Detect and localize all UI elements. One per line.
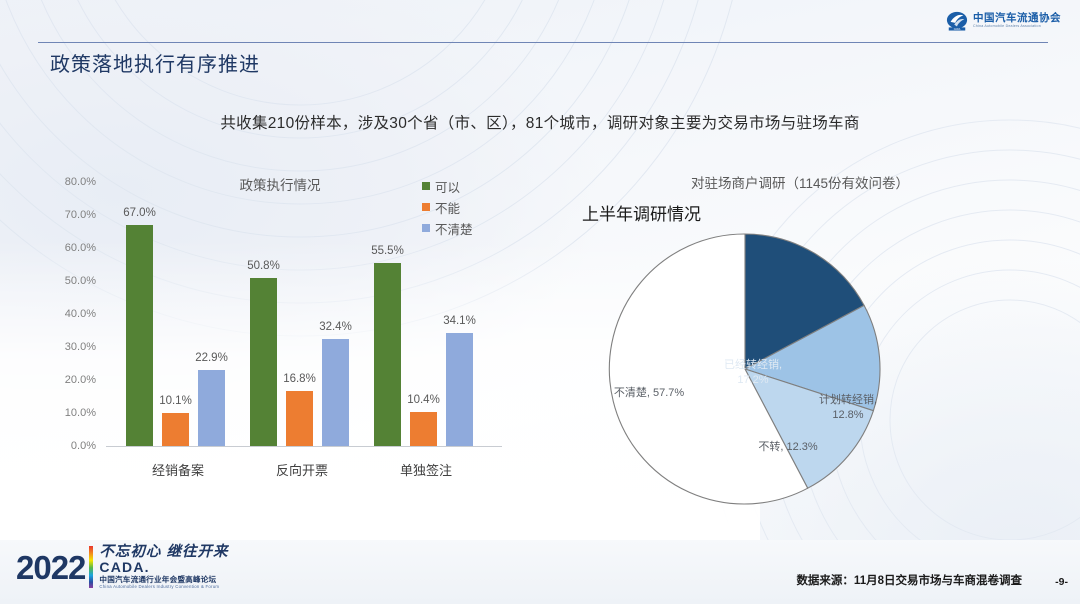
bar-2-0: 55.5% [374, 263, 401, 446]
y-tick-6: 60.0% [65, 242, 96, 254]
legend-item-0[interactable]: 可以 [422, 178, 473, 194]
y-tick-4: 40.0% [65, 308, 96, 320]
bar-x-label-1: 反向开票 [276, 460, 328, 479]
bar-x-label-2: 单独签注 [400, 460, 452, 479]
page-title: 政策落地执行有序推进 [50, 48, 260, 77]
y-tick-3: 30.0% [65, 341, 96, 353]
legend-label-2: 不清楚 [435, 219, 473, 238]
bar-chart-legend: 可以 不能 不清楚 [422, 178, 473, 241]
brand-name-cn: 中国汽车流通协会 [973, 13, 1061, 24]
bar-1-2: 32.4% [322, 339, 349, 446]
bar-1-0: 50.8% [250, 278, 277, 446]
bar-x-label-0: 经销备案 [152, 460, 204, 479]
bar-value-2-2: 34.1% [443, 315, 476, 327]
bar-value-0-2: 22.9% [195, 352, 228, 364]
legend-swatch-orange-icon [422, 203, 430, 211]
pie-chart: 对驻场商户调研（1145份有效问卷） 上半年调研情况 已经转经销, 17.2% [560, 168, 1070, 513]
bar-value-0-0: 67.0% [123, 207, 156, 219]
pie-label-planned-conversion-value: 12.8% [832, 409, 863, 421]
svg-text:CADA: CADA [954, 28, 961, 31]
cada-wordmark: CADA. [99, 560, 228, 575]
y-tick-7: 70.0% [65, 209, 96, 221]
bar-2-1: 10.4% [410, 412, 437, 446]
bar-group-1: 50.8% 16.8% 32.4% [248, 182, 356, 446]
data-source-note: 数据来源：11月8日交易市场与车商混卷调查 [796, 572, 1022, 588]
bar-value-1-2: 32.4% [319, 321, 352, 333]
bar-chart-y-axis: 0.0% 10.0% 20.0% 30.0% 40.0% 50.0% 60.0%… [22, 182, 102, 446]
conference-logo: 2022 不忘初心 继往开来 CADA. 中国汽车流通行业年会暨高峰论坛 Chi… [16, 540, 266, 594]
brand-text: 中国汽车流通协会 China Automobile Dealers Associ… [973, 13, 1061, 29]
pie-label-already-converted: 已经转经销, 17.2% [705, 358, 801, 388]
y-tick-1: 10.0% [65, 407, 96, 419]
title-divider [38, 42, 1048, 43]
forum-name-cn: 中国汽车流通行业年会暨高峰论坛 [99, 575, 228, 584]
y-tick-2: 20.0% [65, 374, 96, 386]
brand-logo: CADA 中国汽车流通协会 China Automobile Dealers A… [946, 8, 1066, 34]
legend-item-2[interactable]: 不清楚 [422, 220, 473, 236]
bar-0-0: 67.0% [126, 225, 153, 446]
legend-label-0: 可以 [435, 177, 460, 196]
y-tick-8: 80.0% [65, 176, 96, 188]
slide-canvas: CADA 中国汽车流通协会 China Automobile Dealers A… [0, 0, 1080, 604]
pie-label-already-converted-name: 已经转经销, [724, 359, 782, 371]
y-tick-5: 50.0% [65, 275, 96, 287]
bar-value-1-1: 16.8% [283, 373, 316, 385]
legend-swatch-blue-icon [422, 224, 430, 232]
rainbow-stripe-icon [89, 546, 93, 588]
bar-value-1-0: 50.8% [247, 260, 280, 272]
bar-1-1: 16.8% [286, 391, 313, 446]
bar-value-2-0: 55.5% [371, 245, 404, 257]
page-number: -9- [1055, 576, 1068, 588]
conference-slogan: 不忘初心 继往开来 [99, 545, 228, 560]
pie-chart-header: 对驻场商户调研（1145份有效问卷） [600, 172, 1000, 192]
forum-name-en: China Automobile Dealers Industry Conven… [99, 584, 228, 589]
bar-2-2: 34.1% [446, 333, 473, 446]
bar-value-2-1: 10.4% [407, 394, 440, 406]
conference-year: 2022 [16, 551, 85, 584]
pie-label-no-conversion: 不转, 12.3% [742, 440, 834, 455]
brand-name-en: China Automobile Dealers Association [973, 25, 1061, 29]
legend-swatch-green-icon [422, 182, 430, 190]
pie-label-unclear: 不清楚, 57.7% [594, 386, 704, 401]
y-tick-0: 0.0% [71, 440, 96, 452]
legend-item-1[interactable]: 不能 [422, 199, 473, 215]
pie-chart-title: 上半年调研情况 [582, 200, 701, 225]
cada-eagle-logo-icon: CADA [946, 10, 968, 32]
bar-chart-baseline [106, 446, 502, 447]
pie-label-planned-conversion-name: 计划转经销, [819, 394, 877, 406]
bar-chart: 政策执行情况 0.0% 10.0% 20.0% 30.0% 40.0% 50.0… [22, 168, 522, 508]
bar-group-0: 67.0% 10.1% 22.9% [124, 182, 232, 446]
bar-0-1: 10.1% [162, 413, 189, 446]
bar-0-2: 22.9% [198, 370, 225, 446]
conference-logo-text: 不忘初心 继往开来 CADA. 中国汽车流通行业年会暨高峰论坛 China Au… [99, 545, 228, 590]
pie-label-already-converted-value: 17.2% [737, 374, 768, 386]
pie-label-planned-conversion: 计划转经销, 12.8% [798, 393, 898, 423]
legend-label-1: 不能 [435, 198, 460, 217]
bar-value-0-1: 10.1% [159, 395, 192, 407]
page-subtitle: 共收集210份样本，涉及30个省（市、区），81个城市，调研对象主要为交易市场与… [0, 111, 1080, 133]
